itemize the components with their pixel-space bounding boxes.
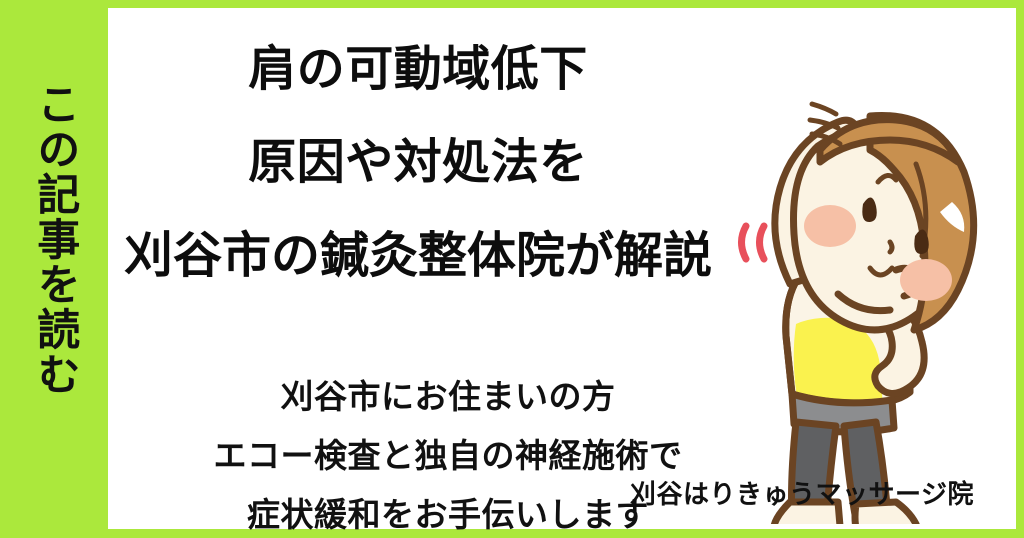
motion-lines-icon [742, 226, 765, 259]
read-article-cta-label: この記事を読む [31, 82, 77, 397]
headline-line-1: 肩の可動域低下 [108, 46, 728, 94]
clinic-name: 刈谷はりきゅうマッサージ院 [630, 474, 974, 511]
page-title: 肩の可動域低下 原因や対処法を 刈谷市の鍼灸整体院が解説 [108, 46, 728, 281]
subtitle-line-1: 刈谷市にお住まいの方 [108, 380, 788, 413]
read-article-cta[interactable]: この記事を読む [0, 0, 108, 538]
cheek-right [900, 259, 952, 301]
cheek-left [804, 205, 856, 247]
article-banner: 肩の可動域低下 原因や対処法を 刈谷市の鍼灸整体院が解説 刈谷市にお住まいの方 … [0, 0, 1024, 538]
woman-raising-arm-illustration [720, 54, 1010, 524]
headline-line-3: 刈谷市の鍼灸整体院が解説 [108, 232, 728, 281]
content-card: 肩の可動域低下 原因や対処法を 刈谷市の鍼灸整体院が解説 刈谷市にお住まいの方 … [108, 8, 1016, 529]
subtitle-line-2: エコー検査と独自の神経施術で [108, 439, 788, 472]
headline-line-2: 原因や対処法を [108, 139, 728, 187]
